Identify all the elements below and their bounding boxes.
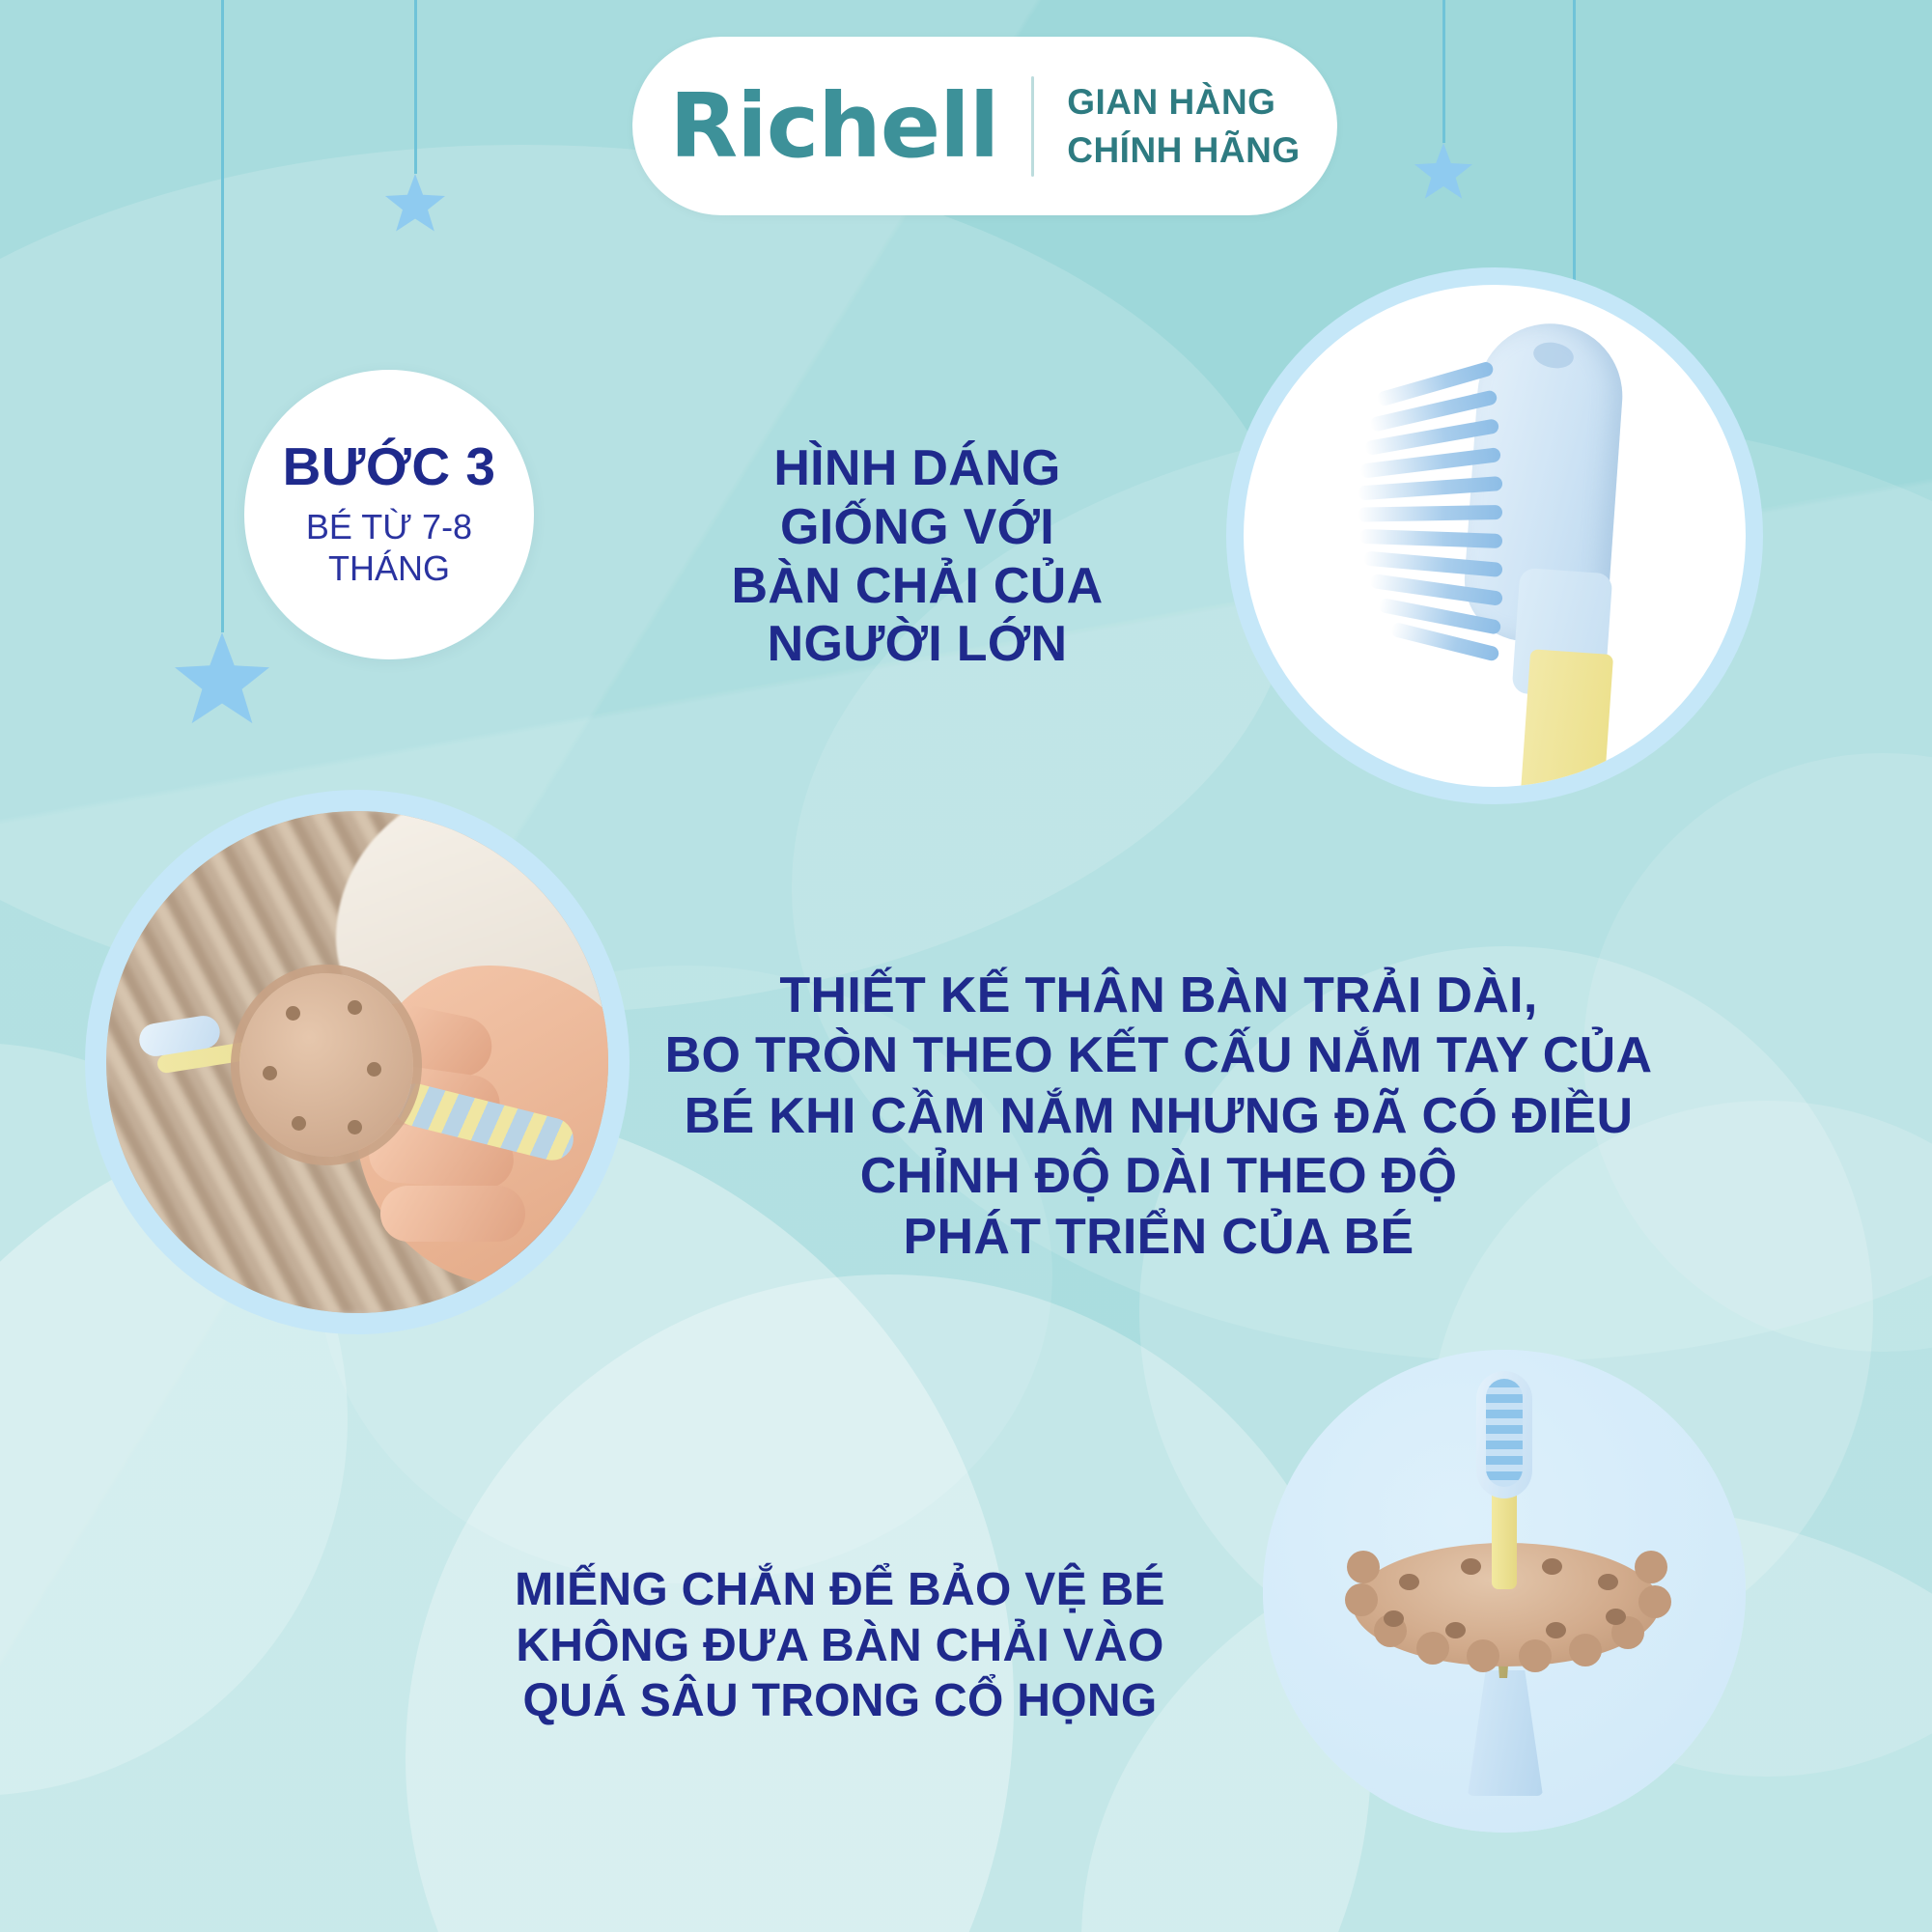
safety-guard-disc bbox=[239, 973, 413, 1157]
poster-canvas: Richell GIAN HÀNG CHÍNH HÃNG BƯỚC 3 BÉ T… bbox=[0, 0, 1932, 1932]
photo-brush-head-closeup bbox=[1244, 285, 1746, 787]
brand-tagline: GIAN HÀNG CHÍNH HÃNG bbox=[1067, 81, 1300, 171]
headline-guard: MIẾNG CHẮN ĐỂ BẢO VỆ BÉ KHÔNG ĐƯA BÀN CH… bbox=[483, 1562, 1197, 1729]
headline-body-line-1: THIẾT KẾ THÂN BÀN TRẢI DÀI, bbox=[618, 966, 1699, 1025]
step-badge-sub-line1: BÉ TỪ bbox=[306, 507, 412, 546]
headline-shape-line-3: BÀN CHẢI CỦA bbox=[647, 557, 1188, 616]
headline-shape-line-2: GIỐNG VỚI bbox=[647, 498, 1188, 557]
headline-body-line-4: CHỈNH ĐỘ DÀI THEO ĐỘ bbox=[618, 1146, 1699, 1206]
brand-tagline-line2: CHÍNH HÃNG bbox=[1067, 129, 1300, 172]
headline-shape-line-4: NGƯỜI LỚN bbox=[647, 615, 1188, 674]
headline-guard-line-2: KHÔNG ĐƯA BÀN CHẢI VÀO bbox=[483, 1618, 1197, 1674]
brand-name: Richell bbox=[669, 82, 998, 171]
step-badge-title: BƯỚC 3 bbox=[283, 440, 496, 493]
headline-body-line-2: BO TRÒN THEO KẾT CẤU NẮM TAY CỦA bbox=[618, 1025, 1699, 1085]
hanging-star-2 bbox=[175, 0, 269, 727]
brush-bristles bbox=[1486, 1379, 1523, 1487]
brush-handle-yellow bbox=[1521, 649, 1613, 787]
photo-baby-hand-holding-brush bbox=[106, 811, 608, 1313]
step-badge-subtitle: BÉ TỪ 7-8 THÁNG bbox=[244, 507, 534, 589]
logo-divider bbox=[1031, 76, 1034, 177]
headline-shape: HÌNH DÁNG GIỐNG VỚI BÀN CHẢI CỦA NGƯỜI L… bbox=[647, 439, 1188, 674]
headline-body-design: THIẾT KẾ THÂN BÀN TRẢI DÀI, BO TRÒN THEO… bbox=[618, 966, 1699, 1267]
photo-brush-with-guard bbox=[1263, 1350, 1746, 1833]
step-badge: BƯỚC 3 BÉ TỪ 7-8 THÁNG bbox=[244, 370, 534, 659]
hanging-star-3 bbox=[1414, 0, 1472, 201]
headline-guard-line-3: QUÁ SÂU TRONG CỔ HỌNG bbox=[483, 1673, 1197, 1729]
brand-tagline-line1: GIAN HÀNG bbox=[1067, 81, 1300, 124]
brand-logo-pill[interactable]: Richell GIAN HÀNG CHÍNH HÃNG bbox=[632, 37, 1337, 215]
headline-shape-line-1: HÌNH DÁNG bbox=[647, 439, 1188, 498]
headline-guard-line-1: MIẾNG CHẮN ĐỂ BẢO VỆ BÉ bbox=[483, 1562, 1197, 1618]
headline-body-line-5: PHÁT TRIỂN CỦA BÉ bbox=[618, 1207, 1699, 1267]
hanging-star-1 bbox=[385, 0, 445, 234]
headline-body-line-3: BÉ KHI CẦM NẮM NHƯNG ĐÃ CÓ ĐIỀU bbox=[618, 1086, 1699, 1146]
